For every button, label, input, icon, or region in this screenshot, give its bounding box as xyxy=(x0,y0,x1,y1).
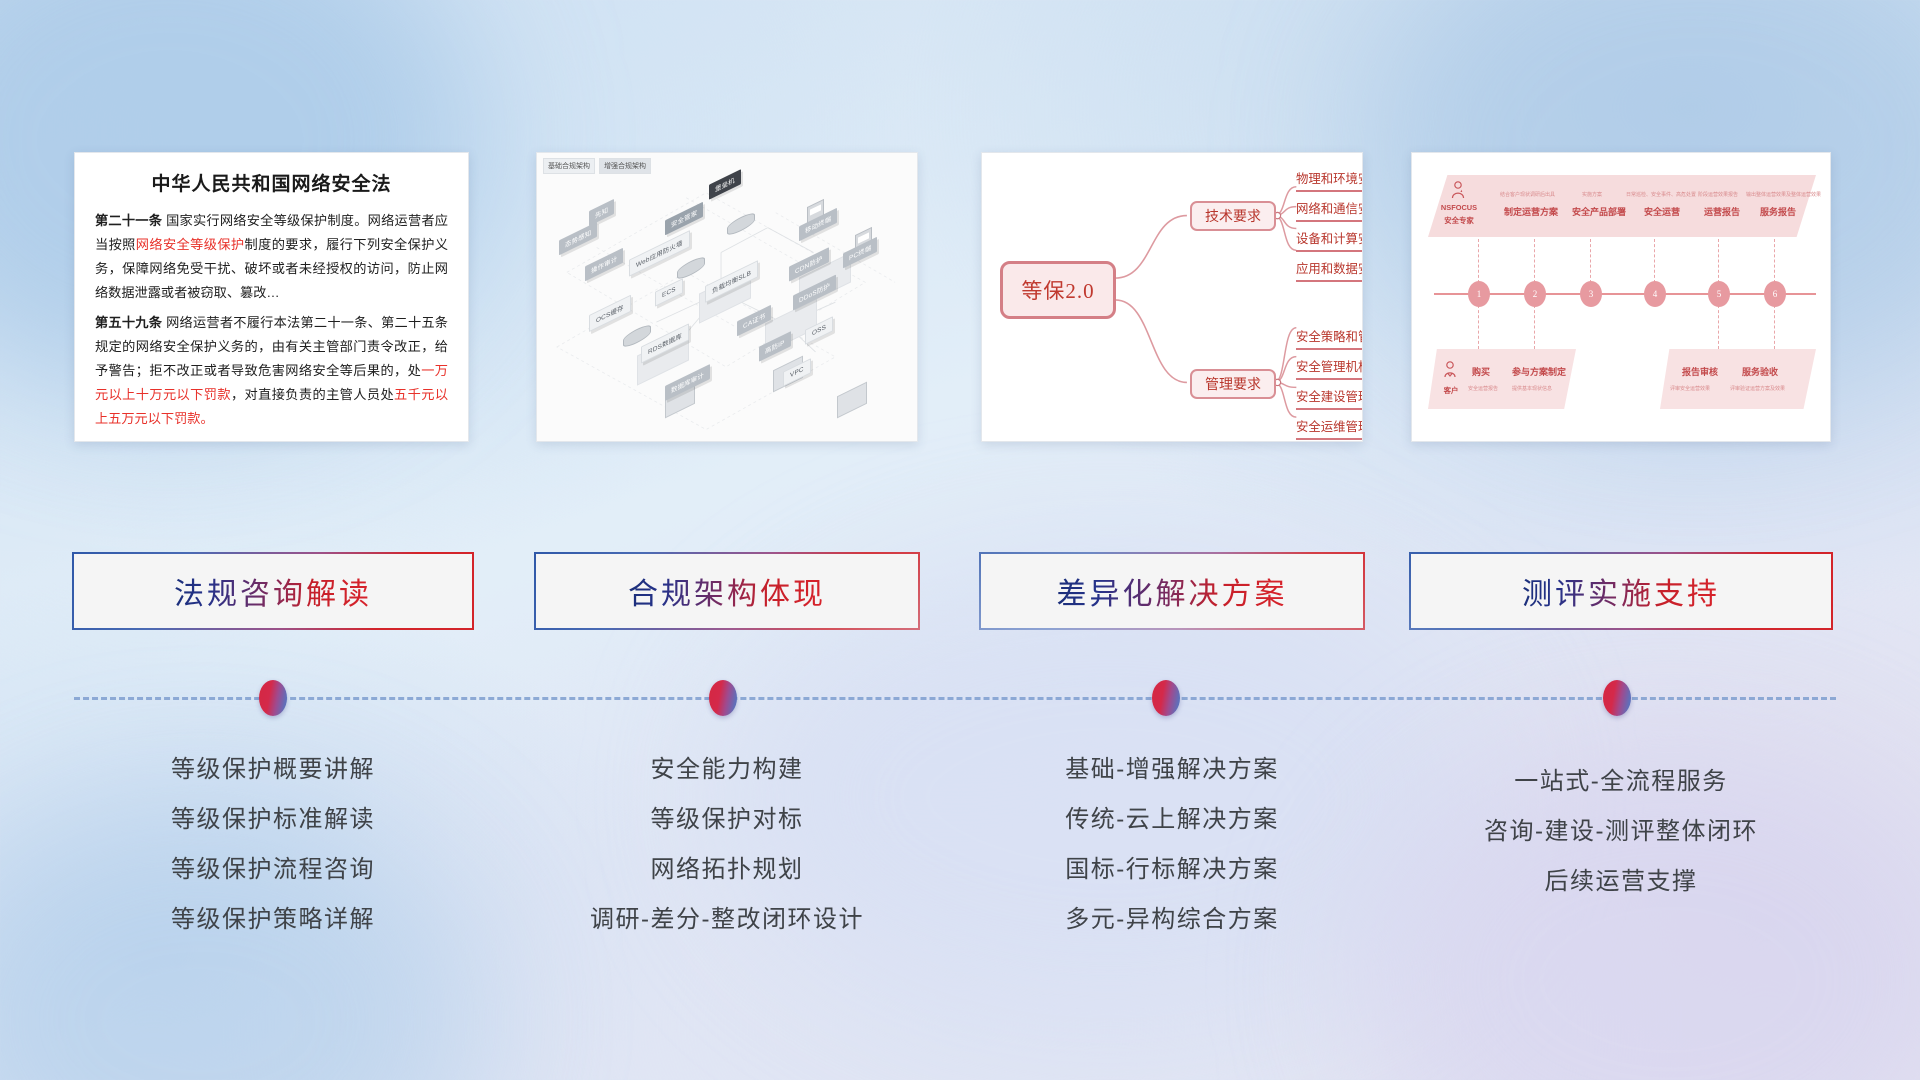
mindmap-leaf-policy-system: 安全策略和管理制度 xyxy=(1296,327,1363,350)
nsfocus-top-sub-3: 日常巡检、安全事件、高危处置 xyxy=(1626,191,1696,198)
card-nsfocus-timeline: NSFOCUS 安全专家 结合客户现状调研后出具 制定运营方案 实施方案 安全产… xyxy=(1411,152,1831,442)
list-item: 多元-异构综合方案 xyxy=(981,895,1363,945)
headline-label-1: 法规咨询解读 xyxy=(174,569,372,613)
nsfocus-top-sub-2: 实施方案 xyxy=(1582,191,1602,198)
architecture-canvas: 基础合规架构 增强合规架构 xyxy=(537,153,917,441)
list-item: 国标-行标解决方案 xyxy=(981,845,1363,895)
nsfocus-bottom-sub-1: 安全运营报告 xyxy=(1468,385,1498,392)
headline-label-4: 测评实施支持 xyxy=(1522,569,1720,613)
nsfocus-bottom-band-left xyxy=(1428,349,1576,409)
law-article-21-highlight: 网络安全等级保护 xyxy=(136,237,245,252)
card-architecture-diagram: 基础合规架构 增强合规架构 xyxy=(536,152,918,442)
nsfocus-stem xyxy=(1534,305,1535,349)
list-item: 等级保护对标 xyxy=(536,795,918,845)
headline-box-1[interactable]: 法规咨询解读 xyxy=(74,554,472,628)
nsfocus-top-sub-1: 结合客户现状调研后出具 xyxy=(1500,191,1555,198)
slide-stage: 中华人民共和国网络安全法 第二十一条 国家实行网络安全等级保护制度。网络运营者应… xyxy=(0,0,1920,1080)
nsfocus-stem xyxy=(1774,239,1775,283)
nsfocus-stem xyxy=(1654,239,1655,283)
nsfocus-node-4: 4 xyxy=(1644,281,1666,307)
mindmap-leaf-operations: 安全运维管理 xyxy=(1296,417,1363,440)
law-article-59-text-b: ，对直接负责的主管人员处 xyxy=(231,387,394,402)
timeline-dashed-line xyxy=(74,697,1836,700)
list-item: 传统-云上解决方案 xyxy=(981,795,1363,845)
timeline-dot-2 xyxy=(709,680,737,716)
list-item: 一站式-全流程服务 xyxy=(1411,757,1831,807)
list-item: 等级保护概要讲解 xyxy=(74,745,472,795)
nsfocus-customer-label: 客户 xyxy=(1436,385,1466,396)
mindmap-branch-management: 管理要求 xyxy=(1190,369,1276,399)
list-item: 等级保护流程咨询 xyxy=(74,845,472,895)
detail-column-1: 等级保护概要讲解 等级保护标准解读 等级保护流程咨询 等级保护策略详解 xyxy=(74,745,472,945)
list-item: 安全能力构建 xyxy=(536,745,918,795)
nsfocus-bottom-sub-2: 提供基本现状信息 xyxy=(1512,385,1552,392)
nsfocus-bottom-title-4: 服务验收 xyxy=(1742,365,1778,378)
nsfocus-stem xyxy=(1534,239,1535,283)
nsfocus-expert-label: 安全专家 xyxy=(1434,215,1484,226)
timeline-dot-4 xyxy=(1603,680,1631,716)
architecture-tabs: 基础合规架构 增强合规架构 xyxy=(543,158,651,174)
nsfocus-stem xyxy=(1774,305,1775,349)
mindmap-leaf-device-compute: 设备和计算安全 xyxy=(1296,229,1363,252)
headline-label-2: 合规架构体现 xyxy=(628,569,826,613)
timeline-dot-3 xyxy=(1152,680,1180,716)
nsfocus-bottom-sub-3: 评审安全运营效果 xyxy=(1670,385,1710,392)
nsfocus-node-5: 5 xyxy=(1708,281,1730,307)
headline-inner: 合规架构体现 xyxy=(536,554,918,628)
nsfocus-bottom-band-right xyxy=(1660,349,1816,409)
nsfocus-node-3: 3 xyxy=(1580,281,1602,307)
mindmap-branch-technical: 技术要求 xyxy=(1190,201,1276,231)
tab-enhanced-compliance[interactable]: 增强合规架构 xyxy=(599,158,651,174)
law-article-21: 第二十一条 国家实行网络安全等级保护制度。网络运营者应当按照网络安全等级保护制度… xyxy=(95,209,448,305)
mindmap-canvas: 等保2.0 技术要求 物理和环境安全 网络和通信安全 设备和计算安全 应用和数据… xyxy=(982,153,1362,441)
nsfocus-canvas: NSFOCUS 安全专家 结合客户现状调研后出具 制定运营方案 实施方案 安全产… xyxy=(1412,153,1830,441)
nsfocus-top-sub-5: 输出整体运营效果及整体运营效果 xyxy=(1746,191,1821,198)
headline-inner: 差异化解决方案 xyxy=(981,554,1363,628)
law-article-21-label: 第二十一条 xyxy=(95,213,162,228)
headline-inner: 法规咨询解读 xyxy=(74,554,472,628)
law-title: 中华人民共和国网络安全法 xyxy=(95,169,448,196)
detail-column-2: 安全能力构建 等级保护对标 网络拓扑规划 调研-差分-整改闭环设计 xyxy=(536,745,918,945)
list-item: 基础-增强解决方案 xyxy=(981,745,1363,795)
nsfocus-stem xyxy=(1718,239,1719,283)
headline-box-4[interactable]: 测评实施支持 xyxy=(1411,554,1831,628)
nsfocus-top-title-5: 服务报告 xyxy=(1760,205,1796,218)
list-item: 咨询-建设-测评整体闭环 xyxy=(1411,807,1831,857)
list-item: 调研-差分-整改闭环设计 xyxy=(536,895,918,945)
nsfocus-stem xyxy=(1478,239,1479,283)
list-item: 等级保护策略详解 xyxy=(74,895,472,945)
headline-label-3: 差异化解决方案 xyxy=(1057,569,1288,613)
customer-person-icon xyxy=(1442,361,1458,379)
detail-column-3: 基础-增强解决方案 传统-云上解决方案 国标-行标解决方案 多元-异构综合方案 xyxy=(981,745,1363,945)
detail-column-4: 一站式-全流程服务 咨询-建设-测评整体闭环 后续运营支撑 xyxy=(1411,757,1831,907)
nsfocus-top-title-3: 安全运营 xyxy=(1644,205,1680,218)
nsfocus-node-2: 2 xyxy=(1524,281,1546,307)
nsfocus-bottom-title-1: 购买 xyxy=(1472,365,1490,378)
list-item: 等级保护标准解读 xyxy=(74,795,472,845)
card-mindmap: 等保2.0 技术要求 物理和环境安全 网络和通信安全 设备和计算安全 应用和数据… xyxy=(981,152,1363,442)
law-article-59: 第五十九条 网络运营者不履行本法第二十一条、第二十五条规定的网络安全保护义务的，… xyxy=(95,311,448,431)
nsfocus-bottom-sub-4: 评审验证运营方案及效果 xyxy=(1730,385,1785,392)
headline-box-2[interactable]: 合规架构体现 xyxy=(536,554,918,628)
mindmap-root: 等保2.0 xyxy=(1000,261,1116,319)
nsfocus-bottom-title-2: 参与方案制定 xyxy=(1512,365,1566,378)
headline-inner: 测评实施支持 xyxy=(1411,554,1831,628)
nsfocus-node-6: 6 xyxy=(1764,281,1786,307)
nsfocus-stem xyxy=(1478,305,1479,349)
nsfocus-stem xyxy=(1590,239,1591,283)
mindmap-leaf-construction: 安全建设管理 xyxy=(1296,387,1363,410)
list-item: 网络拓扑规划 xyxy=(536,845,918,895)
list-item: 后续运营支撑 xyxy=(1411,857,1831,907)
mindmap-leaf-physical-env: 物理和环境安全 xyxy=(1296,169,1363,192)
mindmap-leaf-network-comm: 网络和通信安全 xyxy=(1296,199,1363,222)
nsfocus-bottom-title-3: 报告审核 xyxy=(1682,365,1718,378)
nsfocus-node-1: 1 xyxy=(1468,281,1490,307)
nsfocus-top-title-4: 运营报告 xyxy=(1704,205,1740,218)
nsfocus-top-title-1: 制定运营方案 xyxy=(1504,205,1558,218)
card-law-document: 中华人民共和国网络安全法 第二十一条 国家实行网络安全等级保护制度。网络运营者应… xyxy=(74,152,469,442)
nsfocus-timeline-rail xyxy=(1434,293,1816,295)
timeline-dot-1 xyxy=(259,680,287,716)
headline-box-3[interactable]: 差异化解决方案 xyxy=(981,554,1363,628)
law-body: 中华人民共和国网络安全法 第二十一条 国家实行网络安全等级保护制度。网络运营者应… xyxy=(75,153,468,441)
mindmap-leaf-org-personnel: 安全管理机构和人员 xyxy=(1296,357,1363,380)
mindmap-leaf-app-data: 应用和数据安全 xyxy=(1296,259,1363,282)
nsfocus-stem xyxy=(1718,305,1719,349)
nsfocus-top-sub-4: 阶段运营效果报告 xyxy=(1698,191,1738,198)
expert-person-icon xyxy=(1450,181,1466,199)
law-article-59-label: 第五十九条 xyxy=(95,315,162,330)
nsfocus-logo-text: NSFOCUS xyxy=(1434,203,1484,212)
nsfocus-top-title-2: 安全产品部署 xyxy=(1572,205,1626,218)
tab-basic-compliance[interactable]: 基础合规架构 xyxy=(543,158,595,174)
